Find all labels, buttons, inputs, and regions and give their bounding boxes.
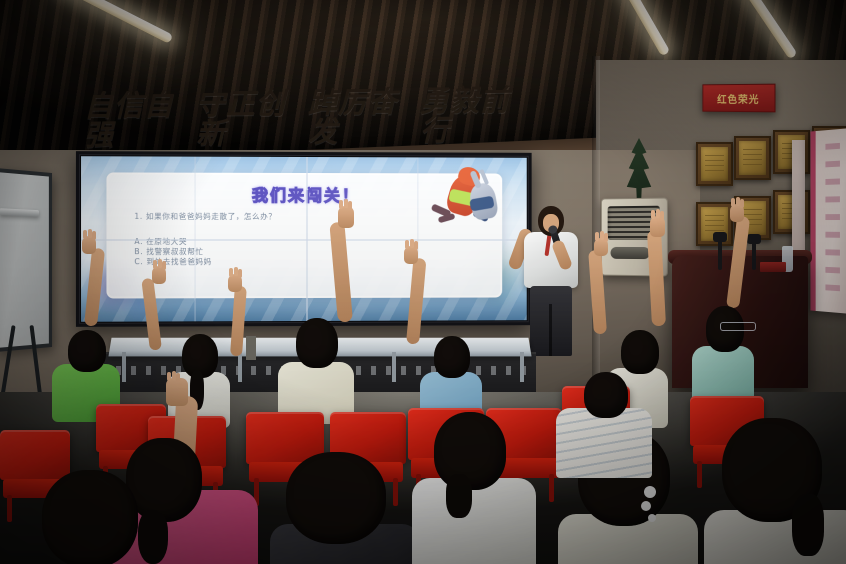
classroom-photo-scene: 自信自强 守正创新 踔厉奋发 勇毅前行 红色荣光 我们来闯关！ 1. 如果你和爸… bbox=[0, 0, 846, 564]
calligraphy-phrase-3: 踔厉奋发 bbox=[308, 88, 403, 147]
student-head bbox=[296, 318, 338, 368]
wall-calligraphy: 自信自强 守正创新 踔厉奋发 勇毅前行 bbox=[84, 89, 515, 147]
raised-hand bbox=[404, 246, 418, 264]
student-ponytail bbox=[792, 494, 824, 556]
character-leg bbox=[438, 213, 456, 223]
ac-control-panel bbox=[611, 247, 650, 259]
student-front-far-right bbox=[714, 418, 846, 564]
student-head bbox=[621, 330, 659, 374]
student-glasses bbox=[712, 300, 766, 360]
raised-hand bbox=[730, 204, 744, 222]
teacher bbox=[516, 206, 586, 356]
raised-hand bbox=[650, 216, 665, 237]
raised-hand bbox=[152, 266, 166, 284]
student-front-white bbox=[418, 412, 526, 564]
table-leg bbox=[122, 352, 126, 382]
microphone-stand-1 bbox=[718, 238, 722, 270]
slide-question: 1. 如果你和爸爸妈妈走散了，怎么办？ bbox=[134, 211, 412, 222]
student-head bbox=[434, 336, 470, 378]
slide-options: A. 在原地大哭 B. 找警察叔叔帮忙 C. 到处去找爸爸妈妈 bbox=[134, 237, 412, 267]
table-leg bbox=[238, 352, 242, 382]
raised-hand bbox=[166, 378, 188, 406]
red-wall-sign: 红色荣光 bbox=[702, 84, 775, 113]
teacher-pants bbox=[530, 286, 572, 356]
raised-hand bbox=[228, 274, 242, 292]
hair-beads bbox=[644, 486, 656, 498]
student bbox=[278, 318, 354, 422]
calligraphy-phrase-2: 守正创新 bbox=[196, 89, 291, 148]
student-striped bbox=[556, 378, 652, 478]
zootopia-characters bbox=[410, 174, 495, 236]
microphone-stand-2 bbox=[752, 240, 756, 270]
table-leg bbox=[392, 352, 396, 382]
student-head bbox=[434, 412, 506, 490]
eyeglasses-icon bbox=[720, 322, 756, 331]
table-leg bbox=[520, 352, 524, 382]
table-gap bbox=[246, 336, 256, 360]
student-front-left bbox=[36, 470, 154, 564]
student-head bbox=[42, 470, 138, 564]
award-plaque bbox=[734, 136, 771, 180]
slide-option-b: B. 找警察叔叔帮忙 bbox=[134, 247, 412, 257]
raised-hand bbox=[82, 236, 96, 254]
calligraphy-phrase-4: 勇毅前行 bbox=[420, 86, 515, 145]
student-shirt bbox=[556, 408, 652, 478]
calligraphy-phrase-1: 自信自强 bbox=[84, 91, 179, 150]
red-book bbox=[760, 262, 786, 272]
student-head bbox=[584, 372, 628, 418]
student-head bbox=[286, 452, 386, 544]
wall-calligraphy-scroll bbox=[810, 128, 846, 314]
student-front-center bbox=[278, 452, 402, 564]
red-sign-text: 红色荣光 bbox=[717, 90, 759, 105]
student-shirt bbox=[412, 478, 536, 564]
whiteboard-pen-tray bbox=[0, 208, 39, 217]
slide-option-c: C. 到处去找爸爸妈妈 bbox=[134, 257, 412, 267]
award-plaque bbox=[696, 142, 733, 186]
slide-option-a: A. 在原地大哭 bbox=[134, 237, 412, 247]
raised-hand bbox=[338, 206, 354, 228]
student-ponytail bbox=[446, 474, 472, 518]
raised-hand bbox=[594, 238, 608, 256]
student-head bbox=[68, 330, 106, 372]
